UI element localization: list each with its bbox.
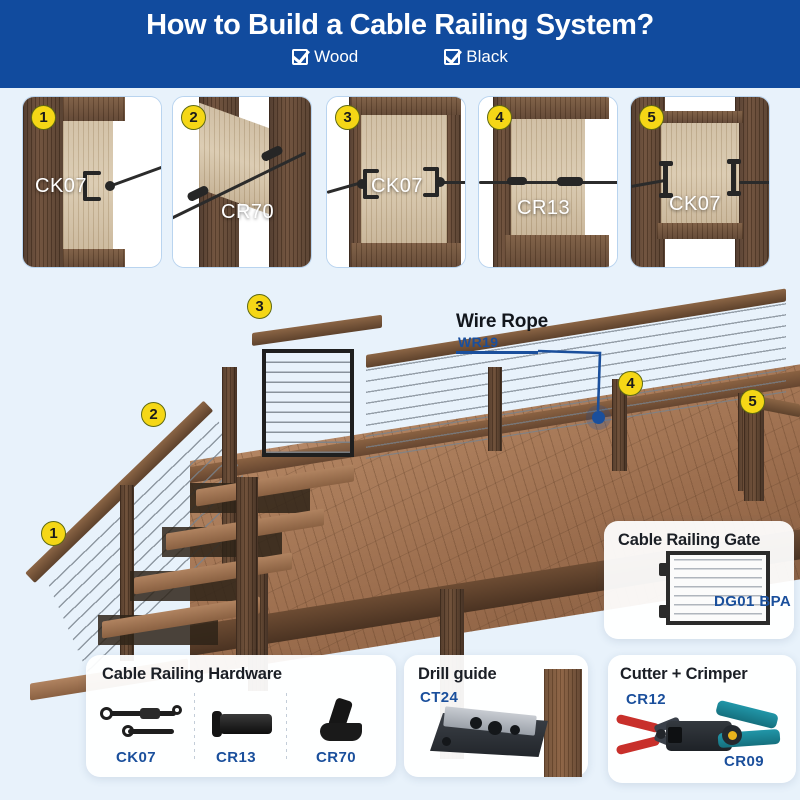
step-card-4[interactable]: CR13 4 [478, 96, 618, 268]
scene-badge-1: 1 [41, 521, 66, 546]
scene-badge-2: 2 [141, 402, 166, 427]
page-header: How to Build a Cable Railing System? Woo… [0, 0, 800, 88]
drill-guide-hole [510, 725, 520, 735]
card-title: Cable Railing Gate [618, 531, 760, 550]
option-wood[interactable]: Wood [292, 47, 358, 67]
card-title: Cutter + Crimper [620, 665, 747, 684]
card-cable-railing-hardware[interactable]: Cable Railing Hardware CK07 CR13 CR70 [86, 655, 396, 777]
checkbox-checked-icon[interactable] [444, 49, 460, 65]
cr70-product-icon [312, 699, 368, 745]
step-card-1[interactable]: CK07 1 [22, 96, 162, 268]
card-code: CT24 [420, 689, 458, 706]
step-badge: 1 [31, 105, 56, 130]
step-cards-row: CK07 1 CR70 2 [0, 96, 800, 271]
scene-badge-3: 3 [247, 294, 272, 319]
step-badge: 4 [487, 105, 512, 130]
drill-guide-hole [488, 721, 502, 735]
step-code: CK07 [371, 175, 423, 198]
card-cutter-crimper[interactable]: Cutter + Crimper CR12 CR09 [608, 655, 796, 783]
step-card-5[interactable]: CK07 5 [630, 96, 770, 268]
scene-badge-4: 4 [618, 371, 643, 396]
upper-rail [252, 315, 382, 346]
card-drill-guide[interactable]: Drill guide CT24 [404, 655, 588, 777]
card-divider [194, 693, 195, 761]
cr13-product-icon [212, 707, 274, 741]
drill-guide-hole [470, 717, 482, 729]
railing-post [488, 367, 502, 451]
option-black[interactable]: Black [444, 47, 508, 67]
step-code: CK07 [35, 175, 87, 198]
step-badge: 2 [181, 105, 206, 130]
hardware-code: CR70 [316, 749, 356, 766]
card-code: DG01 BPA [714, 593, 791, 610]
drill-guide-post [544, 669, 582, 777]
checkbox-checked-icon[interactable] [292, 49, 308, 65]
card-title: Drill guide [418, 665, 496, 684]
step-code: CR13 [517, 197, 570, 220]
card-divider [286, 693, 287, 761]
callout-anchor-dot [592, 411, 605, 424]
cable-railing-gate[interactable] [262, 349, 354, 457]
ck07-product-icon [98, 701, 190, 747]
step-card-3[interactable]: CK07 3 [326, 96, 466, 268]
step-code: CR70 [221, 201, 274, 224]
cutter-code: CR12 [626, 691, 666, 708]
option-label: Wood [314, 47, 358, 67]
page-title: How to Build a Cable Railing System? [0, 0, 800, 42]
step-code: CK07 [669, 193, 721, 216]
card-cable-railing-gate[interactable]: Cable Railing Gate DG01 BPA [604, 521, 794, 639]
step-badge: 5 [639, 105, 664, 130]
callout-title: Wire Rope [456, 311, 548, 333]
scene-badge-5: 5 [740, 389, 765, 414]
step-card-2[interactable]: CR70 2 [172, 96, 312, 268]
header-options: Wood Black [0, 47, 800, 67]
stringer [236, 477, 258, 657]
step-badge: 3 [335, 105, 360, 130]
gate-cables [266, 353, 350, 453]
cr09-product-icon [666, 707, 788, 763]
callout-code: WR19 [458, 334, 499, 350]
hardware-code: CR13 [216, 749, 256, 766]
hardware-code: CK07 [116, 749, 156, 766]
option-label: Black [466, 47, 508, 67]
drill-guide-hole [442, 737, 451, 746]
gate-product-icon [666, 551, 770, 625]
card-title: Cable Railing Hardware [102, 665, 282, 684]
callout-underline [456, 351, 538, 354]
